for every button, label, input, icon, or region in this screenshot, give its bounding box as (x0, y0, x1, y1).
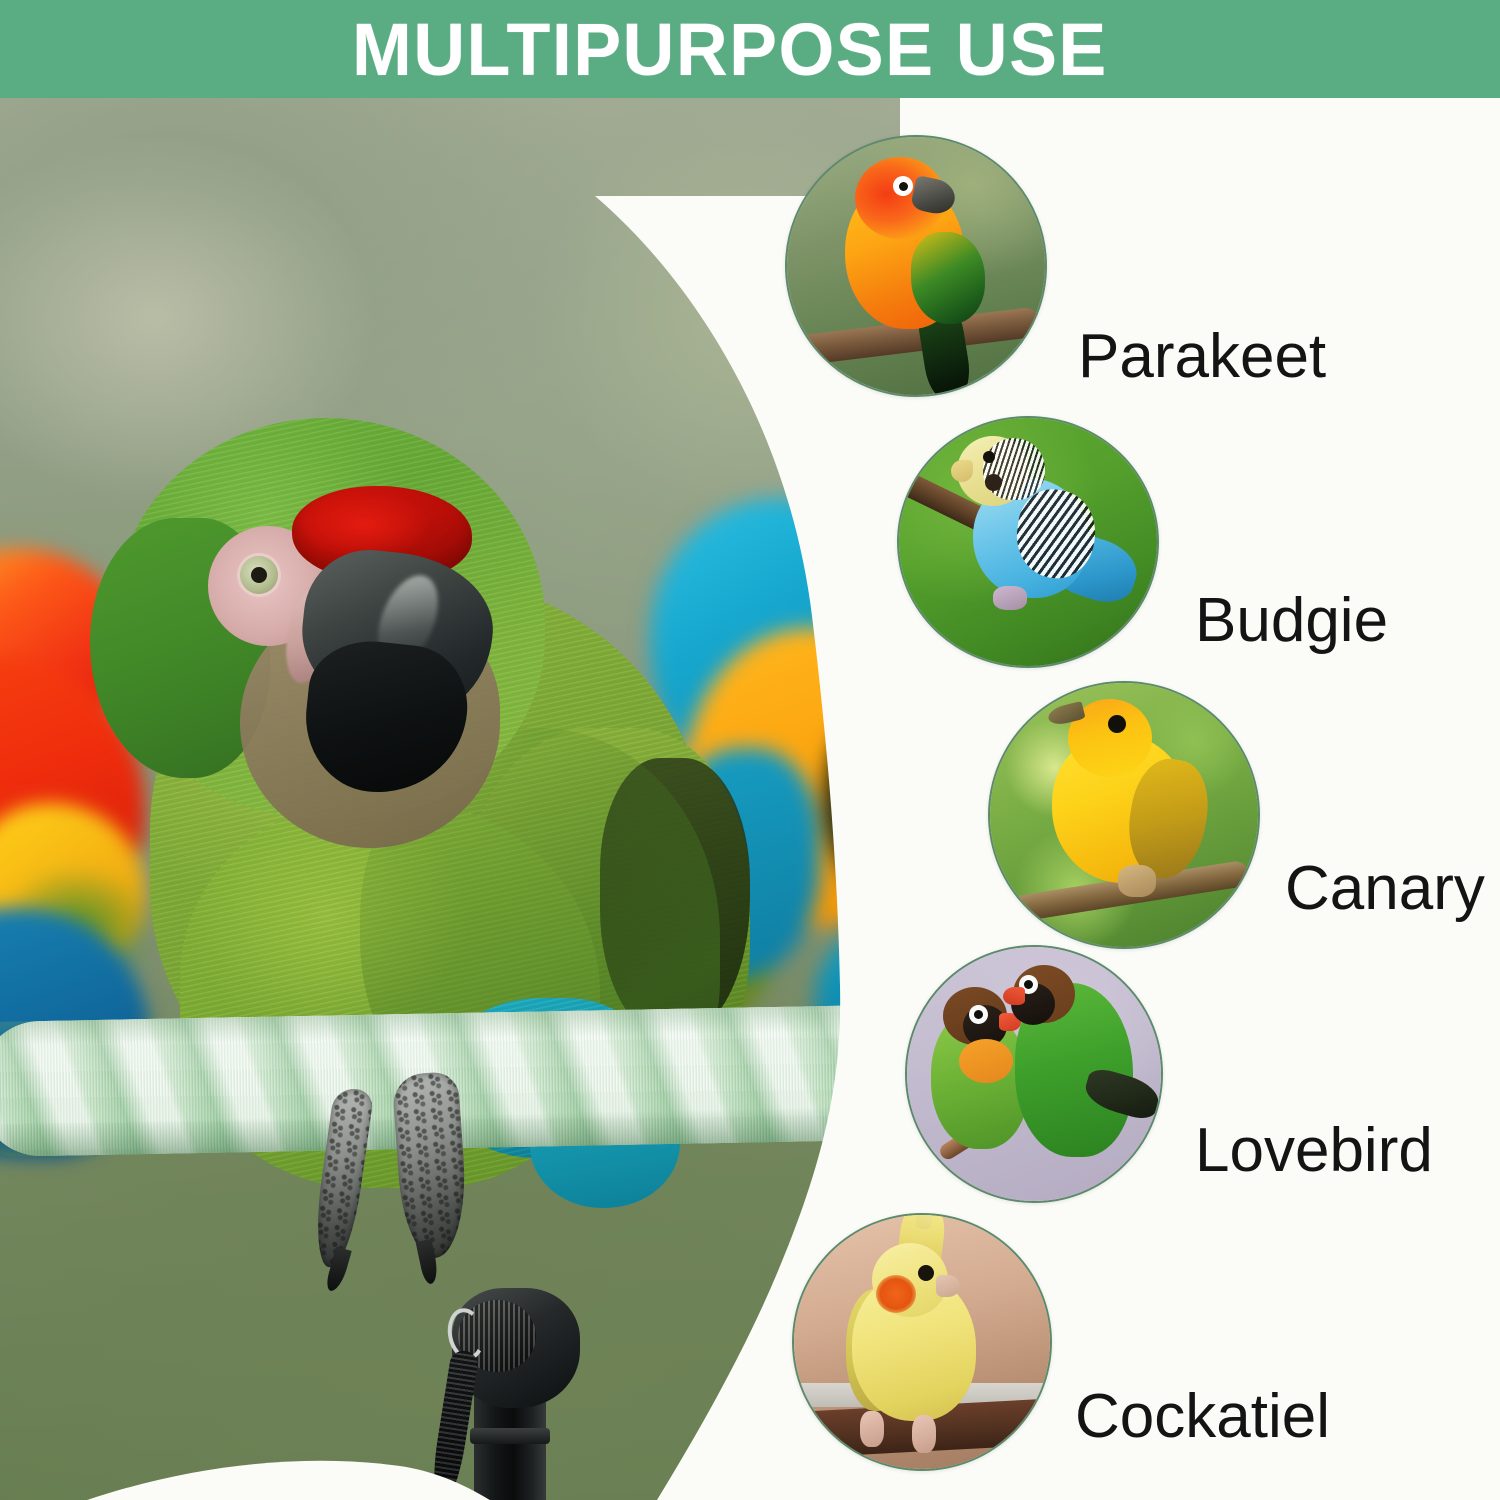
canary-photo-icon (988, 681, 1260, 949)
parakeet-photo-icon (785, 135, 1047, 397)
lovebird-photo-icon (905, 945, 1163, 1203)
bird-types-panel: Parakeet Budgie (740, 98, 1500, 1500)
bird-label-cockatiel: Cockatiel (1075, 1386, 1330, 1448)
header-banner: MULTIPURPOSE USE (0, 0, 1500, 98)
bird-label-lovebird: Lovebird (1195, 1120, 1433, 1182)
perch-stand (430, 1288, 620, 1500)
bird-label-budgie: Budgie (1195, 590, 1388, 652)
infographic-page: MULTIPURPOSE USE Parakeet (0, 0, 1500, 1500)
bird-label-canary: Canary (1285, 858, 1485, 920)
cockatiel-photo-icon (792, 1213, 1052, 1471)
bird-label-parakeet: Parakeet (1078, 326, 1326, 388)
budgie-photo-icon (897, 416, 1159, 668)
stand-strap (428, 1349, 479, 1500)
page-title: MULTIPURPOSE USE (352, 4, 1108, 96)
